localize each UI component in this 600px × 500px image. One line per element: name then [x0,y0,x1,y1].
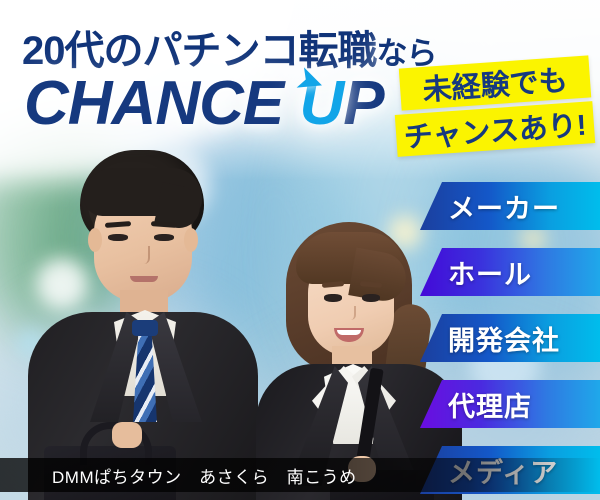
male-eye-left [108,234,128,241]
male-eye-right [154,234,174,241]
category-button-maker[interactable]: メーカー [420,182,600,230]
logo-chance-up: CHANCE UP [24,68,384,139]
category-label: 代理店 [448,385,532,424]
male-fringe [84,168,202,216]
male-mouth [130,276,158,282]
female-nose [346,306,356,320]
logo-text-p: P [343,69,383,138]
advertisement-banner[interactable]: 20代のパチンコ転職なら CHANCE UP ➤ 未経験でも チャンスあり! メ… [0,0,600,500]
male-hand [112,422,142,448]
male-ear-right [184,228,198,252]
male-model-photo [28,150,258,500]
female-eye-left [324,294,342,302]
male-ear-left [88,228,102,252]
female-eye-right [362,294,380,302]
caption-bar: DMMぱちタウン あさくら 南こうめ [0,458,600,492]
category-label: ホール [448,253,532,292]
category-button-development-company[interactable]: 開発会社 [420,314,600,362]
female-fringe [296,232,404,284]
male-nose [138,246,150,264]
category-button-agency[interactable]: 代理店 [420,380,600,428]
logo-text-chance: CHANCE [24,69,299,138]
category-label: メーカー [448,187,560,226]
category-button-hall[interactable]: ホール [420,248,600,296]
male-tie-knot [132,320,158,336]
category-label: 開発会社 [448,319,560,358]
caption-text: DMMぱちタウン あさくら 南こうめ [52,463,357,488]
